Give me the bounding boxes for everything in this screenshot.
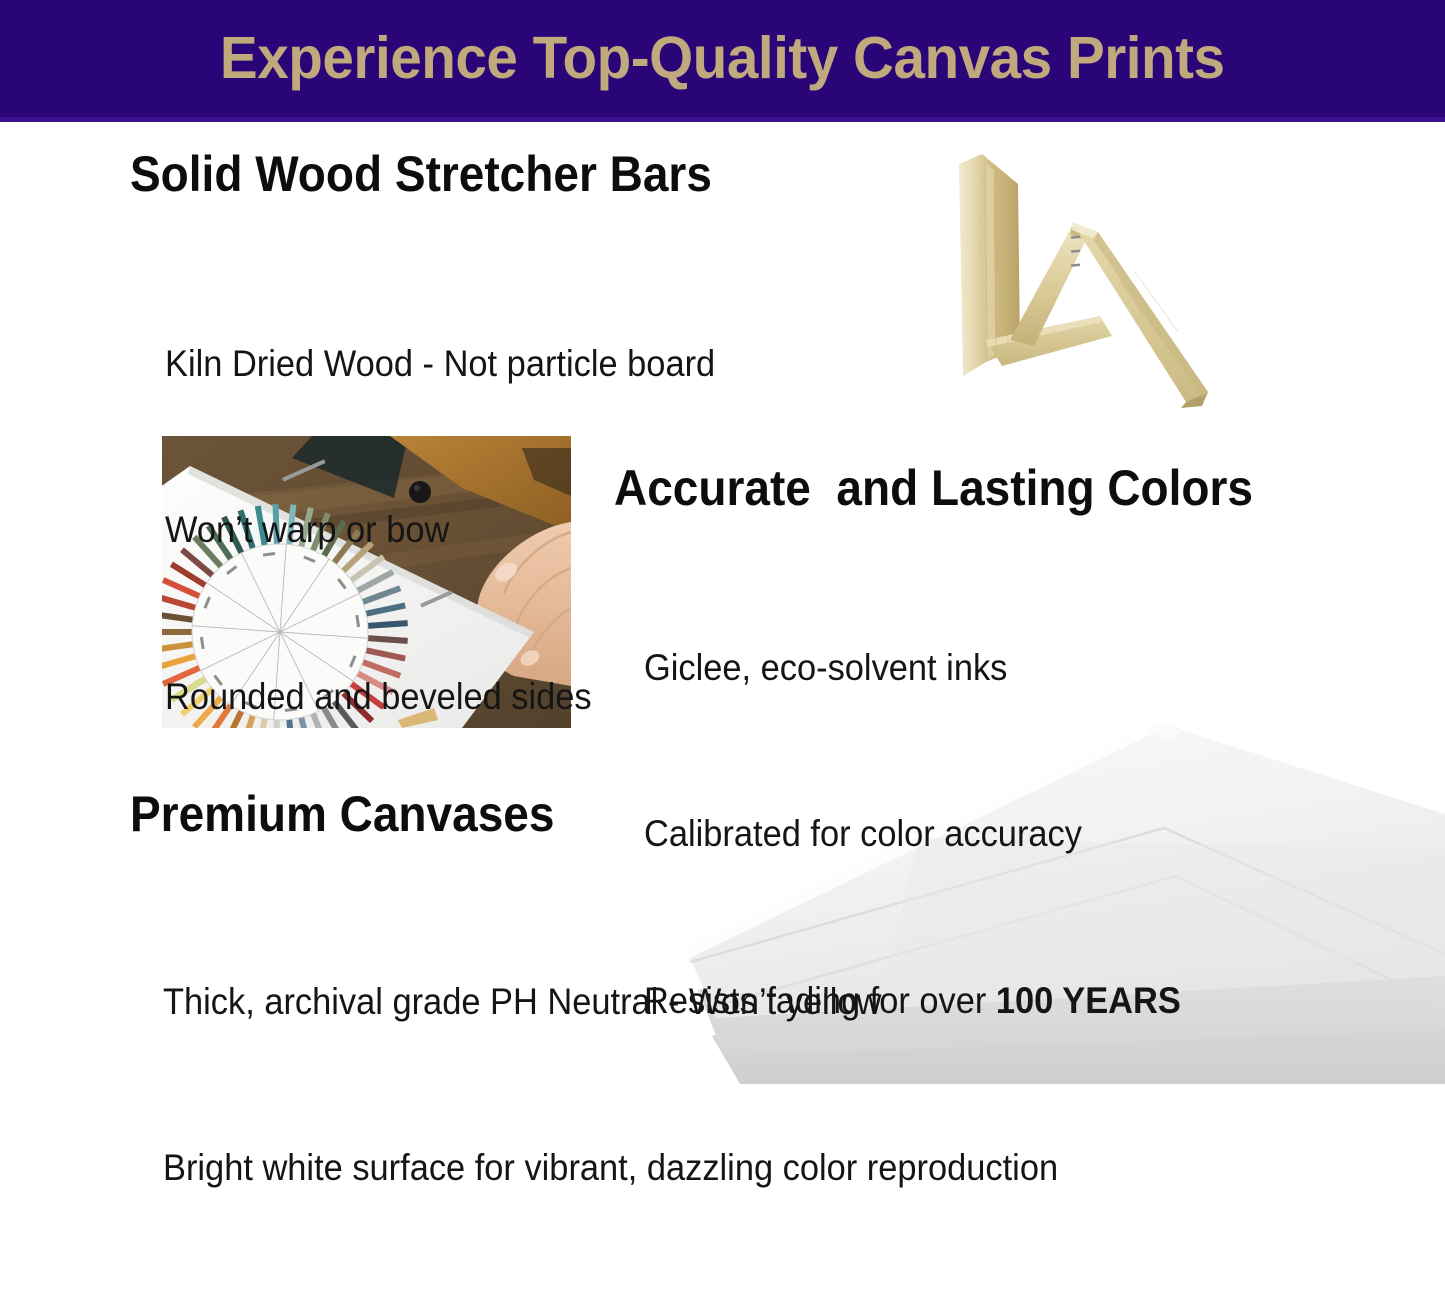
heading-accurate-colors: Accurate and Lasting Colors [614,462,1253,515]
section-premium-canvases: Premium Canvases Thick, archival grade P… [130,788,1125,1307]
page-title: Experience Top-Quality Canvas Prints [220,29,1225,88]
list-item: Giclee, eco-solvent inks [644,640,1262,696]
list-item: Kiln Dried Wood - Not particle board [165,336,721,392]
list-item: Thick, archival grade PH Neutral - Won’t… [163,974,1058,1030]
heading-premium-canvases: Premium Canvases [130,788,1046,841]
bullet-list-premium-canvases: Thick, archival grade PH Neutral - Won’t… [163,863,1058,1307]
wood-stretcher-bars-image [950,140,1230,408]
header-banner: Experience Top-Quality Canvas Prints [0,0,1445,122]
list-item: Bright white surface for vibrant, dazzli… [163,1140,1058,1196]
heading-stretcher-bars: Solid Wood Stretcher Bars [130,148,712,201]
